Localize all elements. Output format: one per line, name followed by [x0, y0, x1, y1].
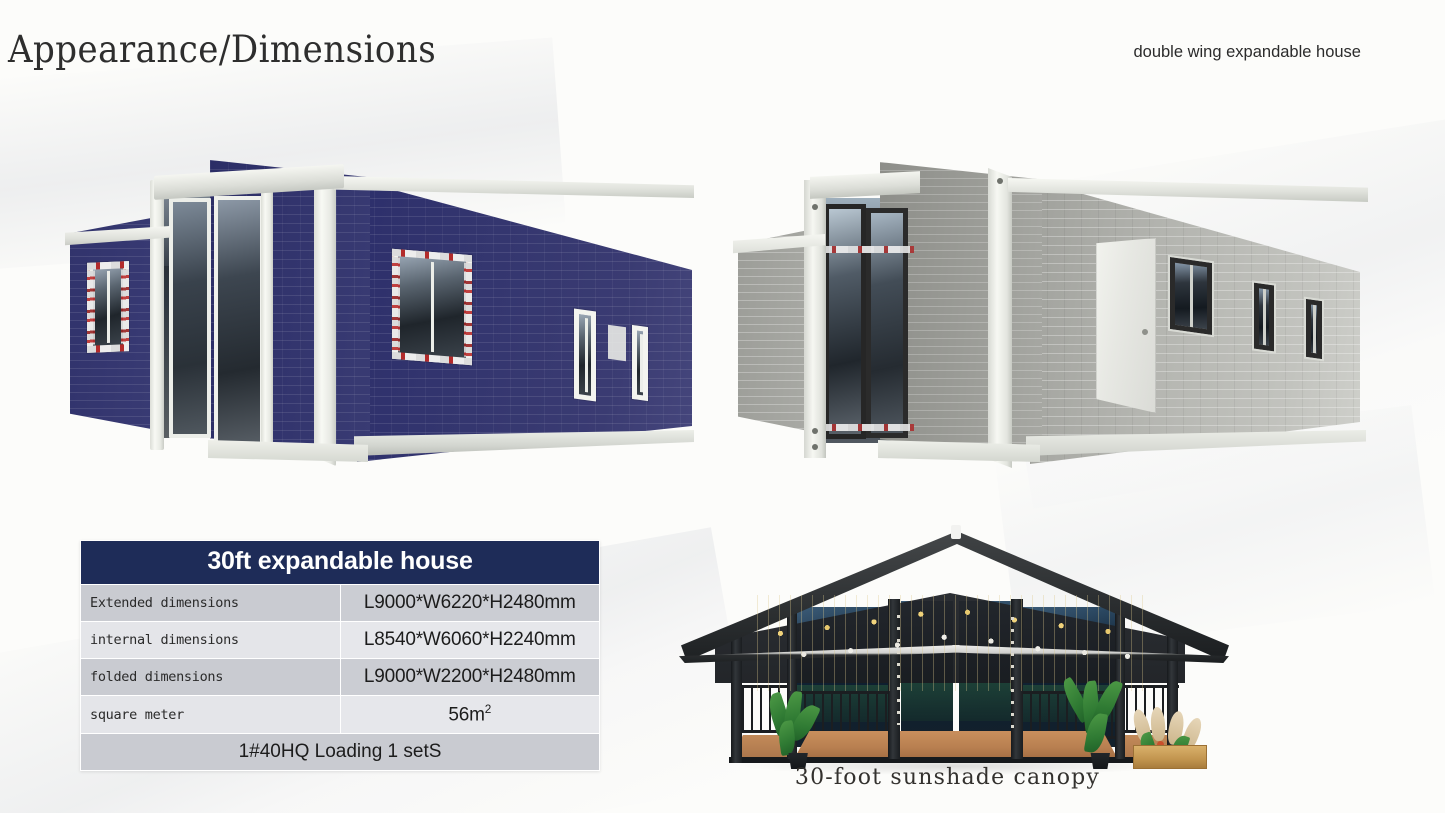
gray-house-door-tape-top: [822, 246, 914, 253]
blue-house-side-plate: [608, 325, 626, 362]
spec-footer-loading: 1#40HQ Loading 1 setS: [81, 734, 600, 771]
table-row: square meter 56m2: [81, 696, 600, 734]
gray-house-window-1: [1170, 257, 1212, 335]
blue-house-post-middle: [261, 186, 273, 448]
spec-label-square-meter: square meter: [81, 696, 341, 734]
spec-value-folded-dimensions: L9000*W2200*H2480mm: [340, 659, 600, 696]
blue-house-front-window: [392, 249, 472, 365]
table-row: folded dimensions L9000*W2200*H2480mm: [81, 659, 600, 696]
spec-table-title: 30ft expandable house: [81, 541, 600, 585]
spec-value-extended-dimensions: L9000*W6220*H2480mm: [340, 585, 600, 622]
canopy-plant-left: [767, 691, 823, 769]
table-row: internal dimensions L8540*W6060*H2240mm: [81, 622, 600, 659]
door-knob-icon: [1142, 329, 1148, 335]
spec-value-internal-dimensions: L8540*W6060*H2240mm: [340, 622, 600, 659]
blue-house-side-window-1: [574, 308, 596, 401]
gray-house-corner-post: [988, 168, 1012, 468]
blue-house-post-left: [150, 180, 164, 450]
gray-house-window-3: [1306, 299, 1322, 359]
header-subtitle: double wing expandable house: [1133, 43, 1361, 62]
blue-house-glass-door-right: [214, 196, 264, 446]
gray-house-entry-door: [1096, 238, 1156, 413]
canopy-roof-ridge: [951, 525, 961, 539]
photo-gray-expandable-house: [730, 138, 1350, 468]
spec-table-header-row: 30ft expandable house: [81, 541, 600, 585]
canopy-plant-right: [1067, 677, 1129, 769]
gray-house-glass-door-left: [824, 204, 866, 439]
blue-house-side-window-2: [632, 325, 648, 401]
canopy-light-strand-right: [1011, 617, 1014, 729]
spec-label-folded-dimensions: folded dimensions: [81, 659, 341, 696]
square-meter-superscript: 2: [485, 703, 491, 716]
blue-house-left-window: [87, 261, 129, 353]
photo-sunshade-canopy: [675, 495, 1220, 770]
photo-blue-expandable-house: [62, 140, 687, 470]
spec-value-square-meter: 56m2: [340, 696, 600, 734]
table-row: Extended dimensions L9000*W6220*H2480mm: [81, 585, 600, 622]
blue-house-glass-door-left: [169, 198, 211, 438]
square-meter-number: 56m: [448, 704, 484, 725]
spec-label-extended-dimensions: Extended dimensions: [81, 585, 341, 622]
page-title: Appearance/Dimensions: [8, 28, 436, 71]
gray-house-door-tape-bottom: [822, 424, 914, 431]
gray-house-glass-door-right: [866, 208, 908, 438]
blue-house-corner-post: [314, 166, 336, 466]
gray-house-post-left: [804, 180, 826, 458]
canopy-flower-crate: [1127, 707, 1213, 769]
spec-label-internal-dimensions: internal dimensions: [81, 622, 341, 659]
spec-table: 30ft expandable house Extended dimension…: [80, 540, 600, 771]
canopy-light-strand-left: [897, 615, 900, 725]
gray-house-window-2: [1254, 283, 1274, 352]
canopy-column-1: [731, 625, 742, 763]
table-row: 1#40HQ Loading 1 setS: [81, 734, 600, 771]
canopy-caption: 30-foot sunshade canopy: [675, 765, 1220, 790]
slide-canvas: Appearance/Dimensions double wing expand…: [0, 0, 1445, 813]
